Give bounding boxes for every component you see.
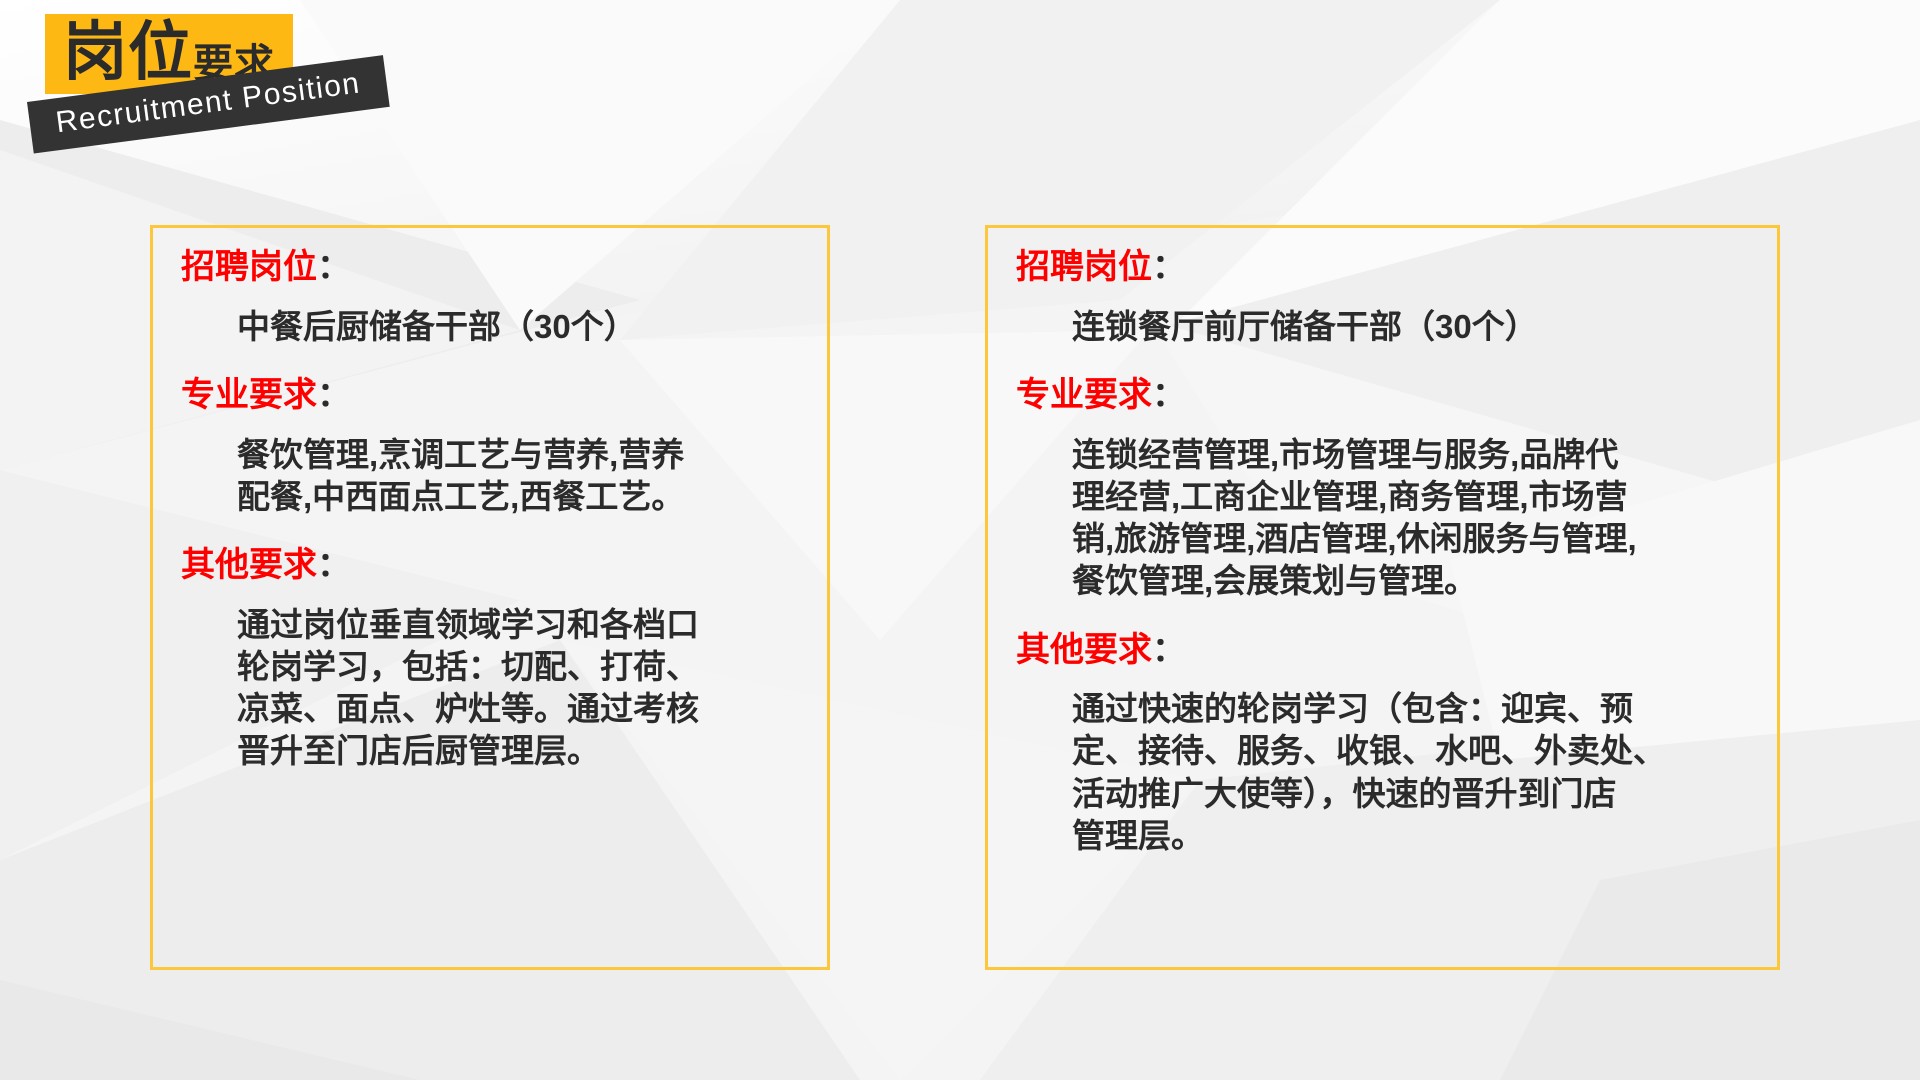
section-body-other-requirement: 通过岗位垂直领域学习和各档口 轮岗学习，包括：切配、打荷、 凉菜、面点、炉灶等。…	[181, 604, 805, 773]
spacer	[181, 420, 805, 434]
job-card-chain-restaurant-front: 招聘岗位： 连锁餐厅前厅储备干部（30个） 专业要求： 连锁经营管理,市场管理与…	[985, 225, 1780, 970]
spacer	[1016, 674, 1755, 688]
label-colon: ：	[317, 248, 351, 286]
job-card-chinese-kitchen: 招聘岗位： 中餐后厨储备干部（30个） 专业要求： 餐饮管理,烹调工艺与营养,营…	[150, 225, 830, 970]
spacer	[1016, 420, 1755, 434]
section-label-other-requirement: 其他要求：	[181, 548, 805, 584]
page-title-main: 岗位	[63, 16, 193, 88]
label-text: 其他要求	[1016, 631, 1152, 669]
label-colon: ：	[1152, 248, 1186, 286]
label-colon: ：	[1152, 376, 1186, 414]
spacer	[181, 590, 805, 604]
section-label-recruit-position: 招聘岗位：	[181, 250, 805, 286]
label-text: 招聘岗位	[181, 248, 317, 286]
card-content: 招聘岗位： 中餐后厨储备干部（30个） 专业要求： 餐饮管理,烹调工艺与营养,营…	[153, 228, 827, 817]
section-body-major-requirement: 餐饮管理,烹调工艺与营养,营养 配餐,中西面点工艺,西餐工艺。	[181, 434, 805, 518]
section-body-major-requirement: 连锁经营管理,市场管理与服务,品牌代 理经营,工商企业管理,商务管理,市场营 销…	[1016, 434, 1755, 603]
section-label-major-requirement: 专业要求：	[1016, 378, 1755, 414]
section-label-recruit-position: 招聘岗位：	[1016, 250, 1755, 286]
section-body-other-requirement: 通过快速的轮岗学习（包含：迎宾、预 定、接待、服务、收银、水吧、外卖处、 活动推…	[1016, 688, 1755, 857]
page-title-block: 岗位要求 Recruitment Position	[45, 14, 293, 94]
label-text: 专业要求	[181, 376, 317, 414]
label-text: 专业要求	[1016, 376, 1152, 414]
spacer	[1016, 292, 1755, 306]
section-body-recruit-position: 中餐后厨储备干部（30个）	[181, 306, 805, 348]
card-content: 招聘岗位： 连锁餐厅前厅储备干部（30个） 专业要求： 连锁经营管理,市场管理与…	[988, 228, 1777, 901]
label-colon: ：	[317, 376, 351, 414]
section-label-major-requirement: 专业要求：	[181, 378, 805, 414]
section-label-other-requirement: 其他要求：	[1016, 633, 1755, 669]
label-colon: ：	[1152, 631, 1186, 669]
label-text: 其他要求	[181, 546, 317, 584]
spacer	[181, 292, 805, 306]
section-body-recruit-position: 连锁餐厅前厅储备干部（30个）	[1016, 306, 1755, 348]
label-text: 招聘岗位	[1016, 248, 1152, 286]
label-colon: ：	[317, 546, 351, 584]
